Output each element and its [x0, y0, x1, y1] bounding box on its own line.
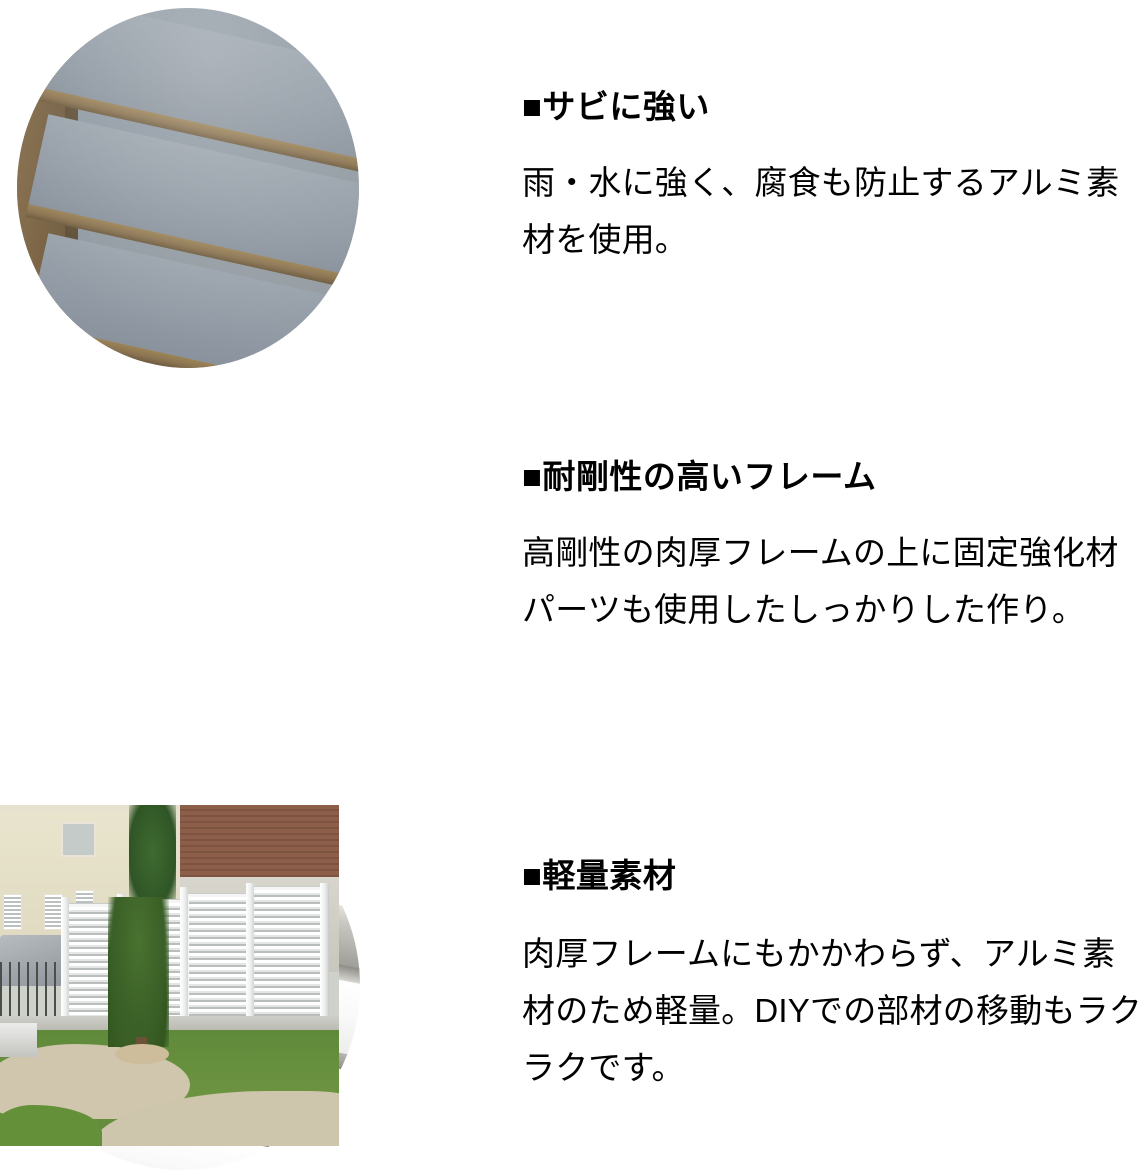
media-column [0, 400, 400, 800]
text-column: ■サビに強い 雨・水に強く、腐食も防止するアルミ素材を使用。 [522, 86, 1142, 269]
feature-heading-rigid-frame: ■耐剛性の高いフレーム [522, 456, 1142, 497]
feature-body-lightweight-material: 肉厚フレームにもかかわらず、アルミ素材のため軽量。DIYでの部材の移動もラクラク… [522, 926, 1142, 1096]
house-window [61, 822, 96, 857]
fence-post [246, 883, 254, 1019]
fence-post [61, 897, 69, 1033]
garden-fence-photo [0, 805, 339, 1146]
louver-scene [17, 8, 359, 368]
feature-row-rust-resistance: ■サビに強い 雨・水に強く、腐食も防止するアルミ素材を使用。 [0, 0, 1148, 400]
text-column: ■軽量素材 肉厚フレームにもかかわらず、アルミ素材のため軽量。DIYでの部材の移… [522, 855, 1142, 1097]
photo-sheen [17, 8, 359, 368]
feature-heading-rust-resistance: ■サビに強い [522, 86, 1142, 127]
louver-panel [251, 887, 328, 1026]
fence-post [180, 887, 188, 1023]
feature-body-rust-resistance: 雨・水に強く、腐食も防止するアルミ素材を使用。 [522, 155, 1142, 269]
brick-house [180, 805, 339, 880]
louver-panel [186, 894, 253, 1026]
fence-post [320, 883, 328, 1019]
media-column [0, 800, 400, 1146]
wall-vent [3, 894, 22, 930]
feature-row-lightweight-material: ■軽量素材 肉厚フレームにもかかわらず、アルミ素材のため軽量。DIYでの部材の移… [0, 800, 1148, 1146]
background-tree [129, 805, 176, 907]
entry-steps [0, 1023, 37, 1057]
text-column: ■耐剛性の高いフレーム 高剛性の肉厚フレームの上に固定強化材パーツも使用したしっ… [522, 456, 1142, 639]
louver-closeup-photo [17, 8, 359, 368]
feature-row-rigid-frame: ■耐剛性の高いフレーム 高剛性の肉厚フレームの上に固定強化材パーツも使用したしっ… [0, 400, 1148, 800]
media-column [0, 0, 400, 400]
iron-fence [0, 962, 68, 1020]
feature-heading-lightweight-material: ■軽量素材 [522, 855, 1142, 896]
conifer-tree [108, 897, 169, 1047]
feature-body-rigid-frame: 高剛性の肉厚フレームの上に固定強化材パーツも使用したしっかりした作り。 [522, 525, 1142, 639]
